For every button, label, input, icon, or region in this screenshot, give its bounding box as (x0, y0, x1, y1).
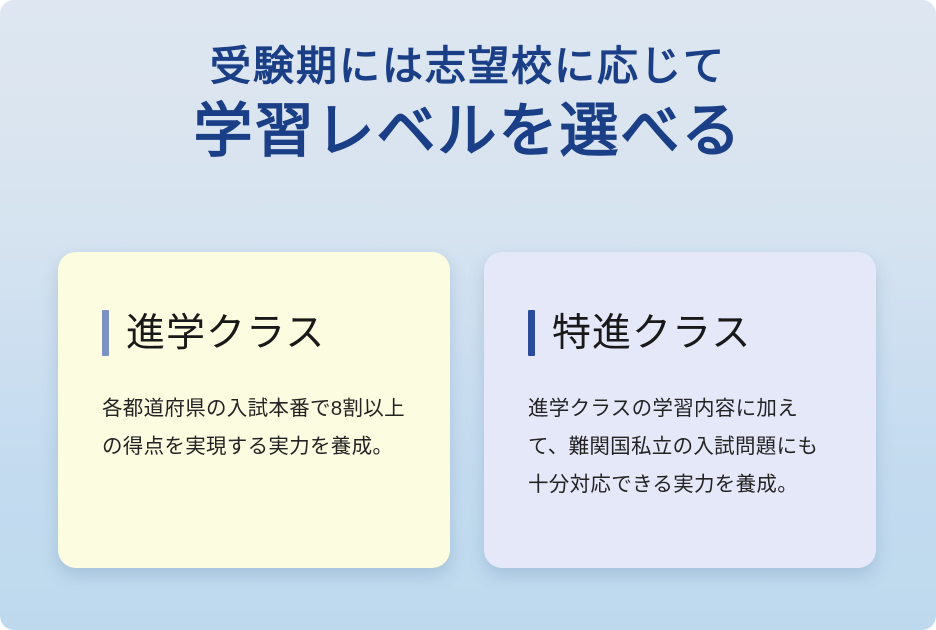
vertical-bar-icon (102, 310, 109, 356)
promo-panel: 受験期には志望校に応じて 学習レベルを選べる 進学クラス 各都道府県の入試本番で… (0, 0, 936, 630)
class-card-tokushin-description: 進学クラスの学習内容に加えて、難関国私立の入試問題にも十分対応できる実力を養成。 (528, 390, 832, 504)
class-card-shingaku[interactable]: 進学クラス 各都道府県の入試本番で8割以上の得点を実現する実力を養成。 (58, 252, 450, 568)
page-title: 受験期には志望校に応じて 学習レベルを選べる (0, 44, 936, 164)
page-title-line-1: 受験期には志望校に応じて (0, 44, 936, 88)
class-card-tokushin-title: 特進クラス (552, 314, 751, 353)
class-card-tokushin-header: 特進クラス (528, 310, 832, 356)
page-title-line-2: 学習レベルを選べる (0, 99, 936, 164)
class-card-list: 進学クラス 各都道府県の入試本番で8割以上の得点を実現する実力を養成。 特進クラ… (58, 252, 876, 568)
vertical-bar-icon (528, 310, 535, 356)
class-card-shingaku-description: 各都道府県の入試本番で8割以上の得点を実現する実力を養成。 (102, 390, 406, 466)
class-card-shingaku-title: 進学クラス (126, 314, 325, 353)
class-card-shingaku-header: 進学クラス (102, 310, 406, 356)
class-card-tokushin[interactable]: 特進クラス 進学クラスの学習内容に加えて、難関国私立の入試問題にも十分対応できる… (484, 252, 876, 568)
